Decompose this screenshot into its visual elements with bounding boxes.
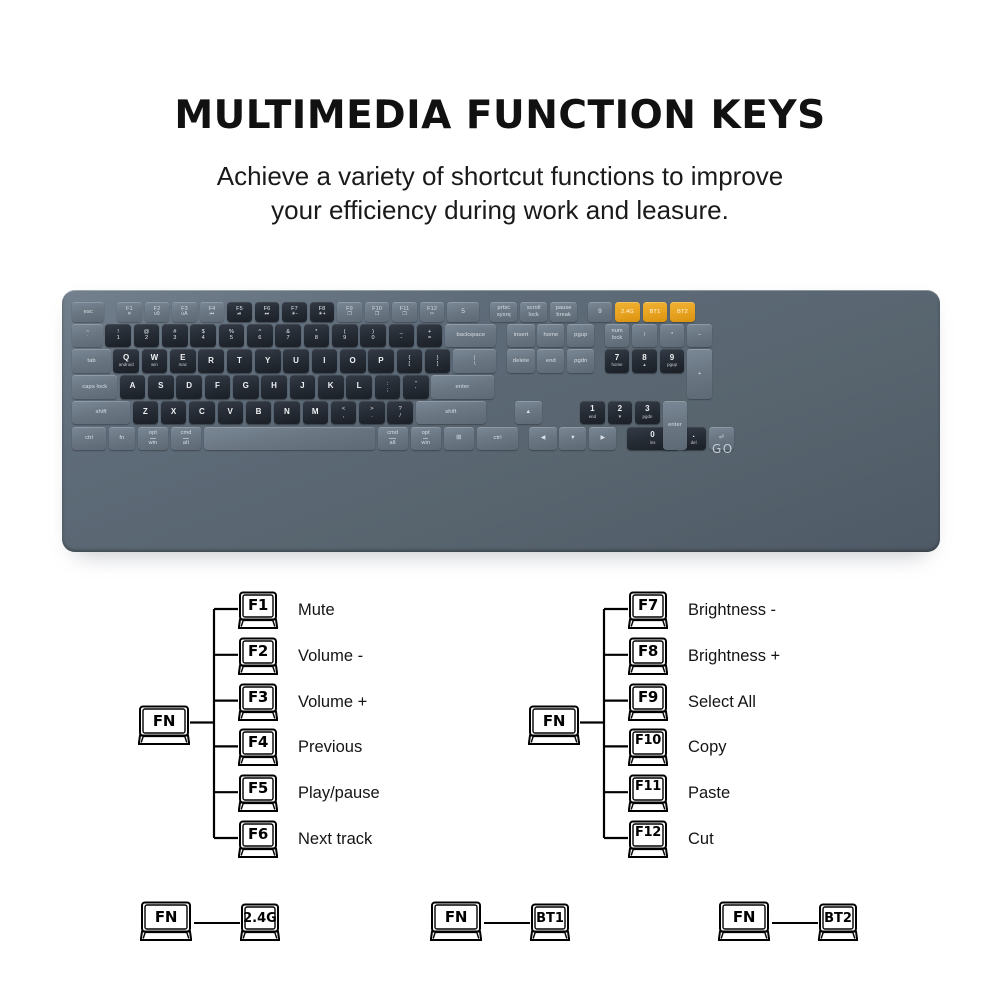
- keycap-label: F10: [628, 733, 668, 748]
- key-tab[interactable]: tab: [72, 349, 110, 373]
- key-shift-label: F6: [264, 306, 271, 312]
- key-key-r[interactable]: R: [198, 349, 224, 373]
- diagram-fn-key: FN: [138, 705, 190, 745]
- key-f2[interactable]: F2ὐ9: [145, 302, 170, 322]
- key-display[interactable]: ὚5: [447, 302, 479, 322]
- key-key-5[interactable]: %5: [219, 324, 245, 348]
- key-function-icon: ⏭: [265, 312, 270, 317]
- key-base-label: ]: [437, 361, 439, 367]
- keycap-label: BT2: [818, 911, 858, 926]
- key-arrow-up[interactable]: ▲: [515, 401, 542, 425]
- key-main-label: Z: [143, 408, 148, 417]
- home-row: caps lockASDFGHJKL:;"'enter: [71, 375, 932, 399]
- key-function-icon: ✂: [430, 312, 434, 317]
- page-subtitle: Achieve a variety of shortcut functions …: [0, 159, 1000, 228]
- shortcut-description: Brightness -: [688, 601, 776, 620]
- brand-logo: GO: [712, 442, 734, 456]
- key-main-label: H: [271, 382, 277, 391]
- key-gap11: [521, 427, 527, 451]
- key-f9[interactable]: F9❐: [337, 302, 362, 322]
- shortcut-description: Select All: [688, 693, 756, 712]
- key-base-label: ;: [387, 387, 389, 393]
- pairing-combos: FN2.4GFNBT1FNBT2: [0, 895, 1000, 965]
- key-base-label: [: [409, 361, 411, 367]
- key-calculator[interactable]: ὚9: [588, 302, 613, 322]
- key-comma[interactable]: <,: [331, 401, 357, 425]
- key-main-label: L: [357, 382, 362, 391]
- calculator-icon: ὚9: [598, 309, 602, 316]
- combo-24g-fn-key: FN: [140, 901, 192, 941]
- combo-bt1-fn-key: FN: [430, 901, 482, 941]
- key-key-z[interactable]: Z: [133, 401, 159, 425]
- diagram-multimedia-shortcuts: FNF1MuteF2Volume -F3Volume +F4PreviousF5…: [130, 570, 560, 870]
- key-dual-label: cmdalt: [181, 430, 192, 447]
- key-main-label: T: [237, 357, 242, 366]
- key-main-label: I: [323, 357, 325, 366]
- diagram-key-f12: F12: [628, 820, 668, 858]
- connector-dash: [772, 922, 818, 924]
- key-pgup[interactable]: pgup: [567, 324, 594, 348]
- key-main-label: K: [328, 382, 334, 391]
- key-f1[interactable]: F1✕: [117, 302, 142, 322]
- key-label: fn: [119, 435, 124, 441]
- key-dual-label: prtscsysrq: [497, 305, 511, 319]
- key-main-label: 0: [650, 431, 655, 440]
- key-function-icon: ❐: [375, 312, 380, 317]
- key-caps-lock[interactable]: caps lock: [72, 375, 117, 399]
- number-row: ~`!1@2#3$4%5^6&7*8(9)0_-+=backspaceinser…: [71, 324, 932, 348]
- function-row: escF1✕F2ὐ9F3ὐAF4⏮F5⏯F6⏭F7☀-F8☀+F9❐F10❐F1…: [71, 302, 932, 322]
- key-slash[interactable]: ?/: [387, 401, 413, 425]
- key-label-bottom: win: [421, 440, 430, 447]
- key-label-bottom: alt: [183, 440, 189, 447]
- key-key-0[interactable]: )0: [360, 324, 386, 348]
- key-main-label: V: [228, 408, 234, 417]
- key-key-8[interactable]: *8: [304, 324, 330, 348]
- key-sub-label: android: [119, 363, 134, 368]
- diagram-key-f6: F6: [238, 820, 278, 858]
- key-backslash[interactable]: |\: [453, 349, 496, 373]
- key-label-top: cmd: [181, 430, 192, 437]
- key-f5[interactable]: F5⏯: [227, 302, 252, 322]
- key-wireless-bt2[interactable]: BT23: [670, 302, 695, 322]
- key-label: delete: [513, 358, 529, 364]
- qwerty-row: tabQandroidWwinEmacRTYUIOP{[}]|\deleteen…: [71, 349, 932, 373]
- key-key-l[interactable]: L: [346, 375, 372, 399]
- key-label: ctrl: [85, 435, 93, 441]
- shortcut-description: Volume +: [298, 693, 367, 712]
- key-label-bottom: sysrq: [497, 312, 511, 319]
- key-key-h[interactable]: H: [261, 375, 287, 399]
- keycap-label: FN: [528, 712, 580, 730]
- key-ctrl-right[interactable]: ctrl: [477, 427, 518, 451]
- key-base-label: .: [371, 413, 373, 419]
- key-wireless-24g[interactable]: 2.4G1: [615, 302, 640, 322]
- key-cmd-alt-right[interactable]: cmdalt: [378, 427, 408, 451]
- key-label: shift: [445, 409, 456, 415]
- menu-icon: ⊞: [456, 435, 462, 442]
- key-quote[interactable]: "': [403, 375, 429, 399]
- key-key-3[interactable]: #3: [162, 324, 188, 348]
- key-label-bottom: lock: [612, 335, 622, 342]
- key-f8[interactable]: F8☀+: [310, 302, 335, 322]
- key-key-p[interactable]: P: [368, 349, 394, 373]
- key-cmd-alt-left[interactable]: cmdalt: [171, 427, 201, 451]
- key-ctrl-left[interactable]: ctrl: [72, 427, 106, 451]
- key-key-9[interactable]: (9: [332, 324, 358, 348]
- key-sub-label: ▼: [618, 415, 622, 420]
- keycap-label: F8: [628, 642, 668, 660]
- key-key-i[interactable]: I: [312, 349, 338, 373]
- key-base-label: -: [400, 335, 402, 341]
- key-sub-label: ins: [650, 441, 656, 446]
- diagram-key-f10: F10: [628, 728, 668, 766]
- key-main-label: N: [284, 408, 290, 417]
- key-key-f[interactable]: F: [205, 375, 231, 399]
- key-scroll-lock[interactable]: scrolllock: [520, 302, 547, 322]
- keycap-label: F12: [628, 825, 668, 840]
- key-home[interactable]: home: [537, 324, 564, 348]
- key-key-s[interactable]: S: [148, 375, 174, 399]
- key-key-v[interactable]: V: [218, 401, 244, 425]
- key-gap10: [545, 401, 578, 425]
- key-label: ▲: [525, 409, 531, 415]
- keycap-label: FN: [430, 908, 482, 926]
- key-semicolon[interactable]: :;: [375, 375, 401, 399]
- key-key-a[interactable]: A: [120, 375, 146, 399]
- key-opt-win-left[interactable]: optwin: [138, 427, 168, 451]
- key-wireless-bt1[interactable]: BT12: [643, 302, 668, 322]
- key-main-label: R: [208, 357, 214, 366]
- key-gap2: [482, 302, 488, 322]
- key-sub-label: end: [589, 415, 596, 420]
- key-period[interactable]: >.: [359, 401, 385, 425]
- key-shift-label: F12: [427, 306, 437, 312]
- key-key-d[interactable]: D: [176, 375, 202, 399]
- shortcut-description: Copy: [688, 738, 727, 757]
- key-dual-label: optwin: [421, 430, 430, 447]
- key-f4[interactable]: F4⏮: [200, 302, 225, 322]
- key-gap12: [619, 427, 624, 451]
- key-key-7[interactable]: &7: [275, 324, 301, 348]
- key-gap7: [597, 349, 602, 373]
- key-main-label: C: [199, 408, 205, 417]
- diagram-key-f5: F5: [238, 774, 278, 812]
- key-f12[interactable]: F12✂: [420, 302, 445, 322]
- shortcut-description: Mute: [298, 601, 335, 620]
- key-numpad-enter[interactable]: enter: [663, 401, 688, 450]
- key-label: 2.4G: [621, 309, 634, 315]
- keycap-label: FN: [718, 908, 770, 926]
- key-base-label: 8: [315, 335, 318, 341]
- key-gap6: [499, 349, 505, 373]
- key-key-q[interactable]: Qandroid: [113, 349, 139, 373]
- key-backspace[interactable]: backspace: [445, 324, 496, 348]
- key-equals[interactable]: +=: [417, 324, 443, 348]
- key-label: insert: [514, 332, 529, 338]
- key-main-label: Y: [265, 357, 271, 366]
- key-end[interactable]: end: [537, 349, 564, 373]
- key-prtsc[interactable]: prtscsysrq: [490, 302, 517, 322]
- key-opt-win-right[interactable]: optwin: [411, 427, 441, 451]
- diagram-key-f3: F3: [238, 683, 278, 721]
- key-numpad-divide[interactable]: /: [632, 324, 657, 348]
- key-label: ▶: [601, 435, 606, 441]
- key-base-label: ': [415, 387, 416, 393]
- key-main-label: O: [350, 357, 356, 366]
- key-esc[interactable]: esc: [72, 302, 104, 322]
- key-arrow-left[interactable]: ◀: [529, 427, 556, 451]
- key-shift-label: F3: [181, 306, 188, 312]
- keycap-label: F4: [238, 733, 278, 751]
- key-gap5: [597, 324, 602, 348]
- key-key-m[interactable]: M: [303, 401, 329, 425]
- key-numpad-3[interactable]: 3pgdn: [635, 401, 660, 425]
- key-shift-label: F1: [126, 306, 133, 312]
- key-base-label: 4: [202, 335, 205, 341]
- key-bracket-left[interactable]: {[: [397, 349, 423, 373]
- key-numpad-1[interactable]: 1end: [580, 401, 605, 425]
- key-main-label: S: [158, 382, 164, 391]
- key-base-label: 9: [343, 335, 346, 341]
- shortcut-description: Previous: [298, 738, 362, 757]
- key-function-icon: ✕: [127, 312, 131, 317]
- key-label: shift: [96, 409, 107, 415]
- key-num-lock[interactable]: numlock: [605, 324, 630, 348]
- diagram-system-shortcuts: FNF7Brightness -F8Brightness +F9Select A…: [520, 570, 950, 870]
- keyboard-image: escF1✕F2ὐ9F3ὐAF4⏮F5⏯F6⏭F7☀-F8☀+F9❐F10❐F1…: [62, 290, 940, 552]
- diagram-key-f2: F2: [238, 637, 278, 675]
- key-gap8: [496, 375, 589, 399]
- shortcut-description: Paste: [688, 784, 730, 803]
- diagram-key-f11: F11: [628, 774, 668, 812]
- keycap-label: 2.4G: [240, 911, 280, 926]
- key-main-label: .: [692, 431, 694, 440]
- shortcut-description: Cut: [688, 830, 714, 849]
- key-label: +: [698, 371, 702, 377]
- key-function-icon: ❐: [347, 312, 352, 317]
- key-numpad-multiply[interactable]: *: [660, 324, 685, 348]
- key-sub-label: del: [691, 441, 697, 446]
- subtitle-line-1: Achieve a variety of shortcut functions …: [0, 159, 1000, 193]
- key-sub-label: pgdn: [642, 415, 652, 420]
- key-main-label: U: [293, 357, 299, 366]
- combo-bt2-target-key: BT2: [818, 903, 858, 941]
- key-dual-label: optwin: [149, 430, 158, 447]
- key-key-o[interactable]: O: [340, 349, 366, 373]
- key-numpad-8[interactable]: 8▲: [632, 349, 657, 373]
- key-key-b[interactable]: B: [246, 401, 272, 425]
- key-f11[interactable]: F11❐: [392, 302, 417, 322]
- key-numpad-7[interactable]: 7home: [605, 349, 630, 373]
- key-f3[interactable]: F3ὐA: [172, 302, 197, 322]
- key-key-t[interactable]: T: [227, 349, 253, 373]
- combo-bt1-target-key: BT1: [530, 903, 570, 941]
- key-key-w[interactable]: Wwin: [142, 349, 168, 373]
- connector-lines: [130, 570, 560, 870]
- key-divider: [389, 438, 396, 439]
- key-dual-label: scrolllock: [527, 305, 541, 319]
- key-insert[interactable]: insert: [507, 324, 534, 348]
- key-base-label: 7: [287, 335, 290, 341]
- connector-dash: [484, 922, 530, 924]
- key-shift-label: F11: [400, 306, 410, 312]
- key-label-bottom: win: [149, 440, 158, 447]
- combo-24g-target-key: 2.4G: [240, 903, 280, 941]
- key-main-label: X: [171, 408, 177, 417]
- key-label-top: cmd: [387, 430, 398, 437]
- key-menu[interactable]: ⊞: [444, 427, 474, 451]
- key-function-icon: ὐ9: [154, 312, 160, 317]
- key-label: BT2: [677, 309, 688, 315]
- key-label: BT1: [649, 309, 660, 315]
- modifier-row: ctrlfnoptwincmdaltcmdaltoptwin⊞ctrl◀▼▶0i…: [71, 427, 932, 451]
- diagram-key-f7: F7: [628, 591, 668, 629]
- key-key-k[interactable]: K: [318, 375, 344, 399]
- key-enter[interactable]: enter: [431, 375, 493, 399]
- key-bracket-right[interactable]: }]: [425, 349, 451, 373]
- key-key-j[interactable]: J: [290, 375, 316, 399]
- key-base-label: ,: [343, 413, 345, 419]
- shortcut-description: Next track: [298, 830, 372, 849]
- key-label-top: scroll: [527, 305, 541, 312]
- keycap-label: BT1: [530, 911, 570, 926]
- key-label: caps lock: [82, 384, 107, 390]
- display-icon: ὚5: [461, 309, 465, 316]
- key-numpad-2[interactable]: 2▼: [608, 401, 633, 425]
- keycap-label: FN: [138, 712, 190, 730]
- header: MULTIMEDIA FUNCTION KEYS Achieve a varie…: [0, 0, 1000, 228]
- key-arrow-down[interactable]: ▼: [559, 427, 586, 451]
- shortcut-diagrams: FNF1MuteF2Volume -F3Volume +F4PreviousF5…: [0, 570, 1000, 870]
- key-shift-left[interactable]: shift: [72, 401, 129, 425]
- connector-dash: [194, 922, 240, 924]
- key-main-label: D: [186, 382, 192, 391]
- key-function-icon: ⏮: [210, 312, 215, 317]
- shortcut-description: Brightness +: [688, 647, 780, 666]
- key-spacebar[interactable]: [204, 427, 375, 451]
- key-main-label: J: [300, 382, 305, 391]
- key-shift-label: F5: [236, 306, 243, 312]
- keycap-label: F6: [238, 825, 278, 843]
- key-key-2[interactable]: @2: [134, 324, 160, 348]
- keycap-label: F5: [238, 779, 278, 797]
- key-base-label: `: [87, 335, 89, 341]
- key-key-e[interactable]: Emac: [170, 349, 196, 373]
- key-numpad-9[interactable]: 9pgup: [660, 349, 685, 373]
- keyboard-key-area: escF1✕F2ὐ9F3ὐAF4⏮F5⏯F6⏭F7☀-F8☀+F9❐F10❐F1…: [71, 299, 932, 544]
- keyboard-body: escF1✕F2ὐ9F3ὐAF4⏮F5⏯F6⏭F7☀-F8☀+F9❐F10❐F1…: [62, 290, 940, 552]
- keycap-label: F2: [238, 642, 278, 660]
- key-key-g[interactable]: G: [233, 375, 259, 399]
- key-base-label: 1: [117, 335, 120, 341]
- key-key-u[interactable]: U: [283, 349, 309, 373]
- key-label: ⏎: [719, 435, 724, 441]
- key-label-top: prtsc: [498, 305, 511, 312]
- key-label: ctrl: [493, 435, 501, 441]
- key-function-icon: ☀-: [291, 312, 297, 317]
- combo-bt2-fn-key: FN: [718, 901, 770, 941]
- key-base-label: 3: [173, 335, 176, 341]
- keycap-label: F9: [628, 688, 668, 706]
- key-function-icon: ὐA: [181, 312, 187, 317]
- key-label-bottom: alt: [390, 440, 396, 447]
- key-numpad-plus[interactable]: +: [687, 349, 712, 398]
- key-shift-label: F10: [372, 306, 382, 312]
- key-sub-label: ▲: [642, 363, 646, 368]
- key-fn[interactable]: fn: [109, 427, 135, 451]
- keycap-label: F7: [628, 596, 668, 614]
- key-main-label: M: [312, 408, 319, 417]
- key-label: ▼: [570, 435, 576, 441]
- key-label: enter: [668, 422, 682, 428]
- key-label-top: num: [611, 328, 622, 335]
- key-divider: [150, 438, 155, 439]
- key-shift-right[interactable]: shift: [416, 401, 486, 425]
- key-base-label: 2: [145, 335, 148, 341]
- key-sub-label: win: [151, 363, 158, 368]
- key-label: end: [546, 358, 556, 364]
- key-f7[interactable]: F7☀-: [282, 302, 307, 322]
- key-backtick[interactable]: ~`: [72, 324, 102, 348]
- key-label-bottom: break: [556, 312, 571, 319]
- key-key-1[interactable]: !1: [105, 324, 131, 348]
- key-label-top: opt: [149, 430, 157, 437]
- key-dual-label: cmdalt: [387, 430, 398, 447]
- key-base-label: 0: [371, 335, 374, 341]
- key-key-y[interactable]: Y: [255, 349, 281, 373]
- key-main-label: A: [130, 382, 136, 391]
- key-main-label: F: [215, 382, 220, 391]
- key-sub-label: home: [612, 363, 623, 368]
- key-label: *: [671, 332, 673, 338]
- key-key-4[interactable]: $4: [190, 324, 216, 348]
- key-divider: [423, 438, 428, 439]
- key-key-c[interactable]: C: [189, 401, 215, 425]
- key-label-top: opt: [422, 430, 430, 437]
- shift-row: shiftZXCVBNM<,>.?/shift▲1end2▼3pgdnenter: [71, 401, 932, 425]
- key-dual-label: pausebreak: [556, 305, 572, 319]
- key-delete[interactable]: delete: [507, 349, 534, 373]
- key-shift-label: F9: [346, 306, 353, 312]
- key-label-bottom: lock: [529, 312, 539, 319]
- subtitle-line-2: your efficiency during work and leasure.: [0, 193, 1000, 227]
- page-title: MULTIMEDIA FUNCTION KEYS: [0, 96, 1000, 137]
- key-pgdn[interactable]: pgdn: [567, 349, 594, 373]
- key-f6[interactable]: F6⏭: [255, 302, 280, 322]
- key-arrow-right[interactable]: ▶: [589, 427, 616, 451]
- key-shift-label: F2: [154, 306, 161, 312]
- key-f10[interactable]: F10❐: [365, 302, 390, 322]
- key-key-6[interactable]: ^6: [247, 324, 273, 348]
- key-pause-break[interactable]: pausebreak: [550, 302, 577, 322]
- key-label: backspace: [456, 332, 485, 338]
- key-key-x[interactable]: X: [161, 401, 187, 425]
- keycap-label: F1: [238, 596, 278, 614]
- diagram-key-f1: F1: [238, 591, 278, 629]
- key-label-top: pause: [556, 305, 572, 312]
- key-minus[interactable]: _-: [389, 324, 415, 348]
- key-main-label: G: [243, 382, 249, 391]
- key-function-icon: ☀+: [318, 312, 326, 317]
- keycap-label: F11: [628, 779, 668, 794]
- key-key-n[interactable]: N: [274, 401, 300, 425]
- key-shift-label: F7: [291, 306, 298, 312]
- keycap-label: F3: [238, 688, 278, 706]
- key-gap1: [107, 302, 114, 322]
- key-numpad-minus[interactable]: −: [687, 324, 712, 348]
- diagram-key-f9: F9: [628, 683, 668, 721]
